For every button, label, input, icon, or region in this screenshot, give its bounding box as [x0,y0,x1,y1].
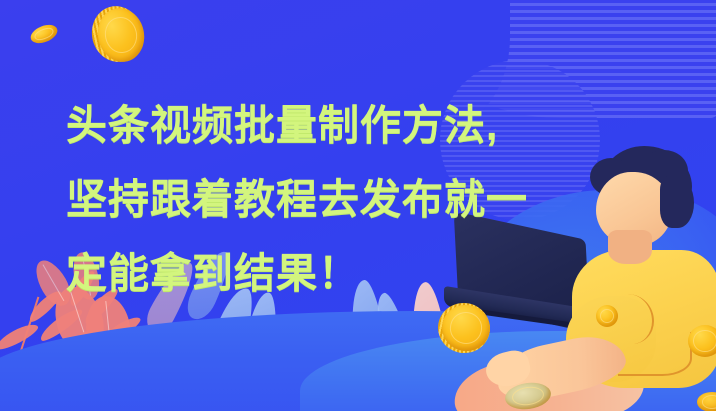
headline-line-1: 头条视频批量制作方法, [66,88,626,162]
gold-coin [688,325,716,357]
headline-text-block: 头条视频批量制作方法, 坚持跟着教程去发布就一 定能拿到结果！ [66,88,626,310]
shirt-fold [618,332,692,376]
gold-coin [697,392,716,411]
headline-line-3: 定能拿到结果！ [66,236,626,310]
promo-poster: 头条视频批量制作方法, 坚持跟着教程去发布就一 定能拿到结果！ [0,0,716,411]
headline-line-2: 坚持跟着教程去发布就一 [66,162,626,236]
person-hair-side [660,176,694,228]
